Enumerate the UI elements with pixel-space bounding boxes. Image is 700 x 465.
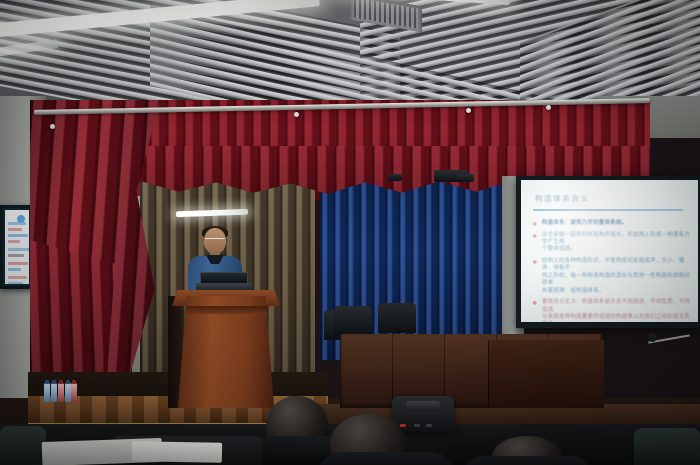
av-case-handle bbox=[406, 401, 440, 411]
water-bottle bbox=[71, 383, 77, 402]
slide-bullet-line: 与系统各种构造要素所组成的构造单以及他们之间形成关系的总 bbox=[542, 314, 690, 322]
rail-runner bbox=[466, 108, 471, 113]
slide-bullet-line: 个整体组成。 bbox=[542, 246, 690, 253]
head-table bbox=[488, 340, 604, 408]
lecture-hall-photo: 构造体系含义 ❖构造体系：建筑力学的整体系统。❖由全部统一起来的所有构件组合，形… bbox=[0, 0, 700, 465]
slide-bullet-line: 要而充分主义：构造体系是许多不同用途、不同性质、不同组成 bbox=[542, 299, 690, 314]
rail-runner bbox=[50, 124, 55, 129]
water-bottle bbox=[44, 383, 50, 402]
slide-bullet-line: 同之外的、每一种构造构造的混合与其他一些构造形成相对简单 bbox=[542, 273, 690, 288]
audience-shoulders bbox=[316, 452, 456, 465]
slide-bullet-line: 由全部统一起来的所有构件组合，形成两上形成一构造有力学产生构 bbox=[542, 232, 690, 247]
seat-back[interactable] bbox=[634, 428, 700, 465]
water-bottle bbox=[58, 383, 64, 402]
podium-trim bbox=[178, 306, 274, 314]
desk-microphone[interactable] bbox=[648, 330, 692, 346]
slide-bullet-line: 结构上的各种构造形式、不管构成何处组成声、大小、墙体、地板不 bbox=[542, 258, 690, 273]
seat-back[interactable] bbox=[0, 426, 46, 465]
ceiling-speaker bbox=[456, 174, 474, 182]
bullet-marker-icon: ❖ bbox=[532, 259, 537, 266]
slide-bullet-line: 布置规律、组构造体系。 bbox=[542, 288, 690, 295]
rail-runner bbox=[294, 112, 299, 117]
slide-bullet-line: 构造体系：建筑力学的整体系统。 bbox=[542, 220, 690, 227]
slide-bullet: ❖由全部统一起来的所有构件组合，形成两上形成一构造有力学产生构个整体组成。 bbox=[531, 232, 690, 254]
bullet-marker-icon: ❖ bbox=[532, 300, 537, 307]
slide-bullet-list: ❖构造体系：建筑力学的整体系统。❖由全部统一起来的所有构件组合，形成两上形成一构… bbox=[531, 220, 690, 322]
av-equipment-case bbox=[392, 396, 454, 432]
projection-screen-surface: 构造体系含义 ❖构造体系：建筑力学的整体系统。❖由全部统一起来的所有构件组合，形… bbox=[521, 180, 698, 322]
slatted-ceiling bbox=[0, 0, 700, 112]
audience-shoulders bbox=[462, 456, 592, 465]
slide-title: 构造体系含义 bbox=[535, 193, 590, 204]
ceiling-speaker bbox=[388, 174, 402, 181]
slide-bullet: ❖构造体系：建筑力学的整体系统。 bbox=[531, 220, 690, 227]
rail-runner bbox=[546, 105, 551, 110]
bullet-marker-icon: ❖ bbox=[532, 233, 537, 240]
bullet-marker-icon: ❖ bbox=[532, 221, 537, 228]
slide-title-divider bbox=[533, 209, 683, 211]
slide-bullet: ❖要而充分主义：构造体系是许多不同用途、不同性质、不同组成与系统各种构造要素所组… bbox=[531, 299, 690, 322]
water-bottles[interactable] bbox=[44, 382, 78, 402]
chair[interactable] bbox=[334, 306, 372, 336]
water-bottle bbox=[51, 383, 57, 402]
slide-bullet: ❖结构上的各种构造形式、不管构成何处组成声、大小、墙体、地板不同之外的、每一种构… bbox=[531, 258, 690, 295]
chair[interactable] bbox=[378, 303, 416, 333]
notebook bbox=[132, 441, 222, 463]
wall-mounted-display[interactable] bbox=[0, 205, 34, 289]
display-logo-dot bbox=[17, 215, 25, 223]
display-screen bbox=[5, 210, 29, 284]
projection-screen: 构造体系含义 ❖构造体系：建筑力学的整体系统。❖由全部统一起来的所有构件组合，形… bbox=[516, 176, 700, 328]
glasses-icon bbox=[205, 238, 225, 243]
